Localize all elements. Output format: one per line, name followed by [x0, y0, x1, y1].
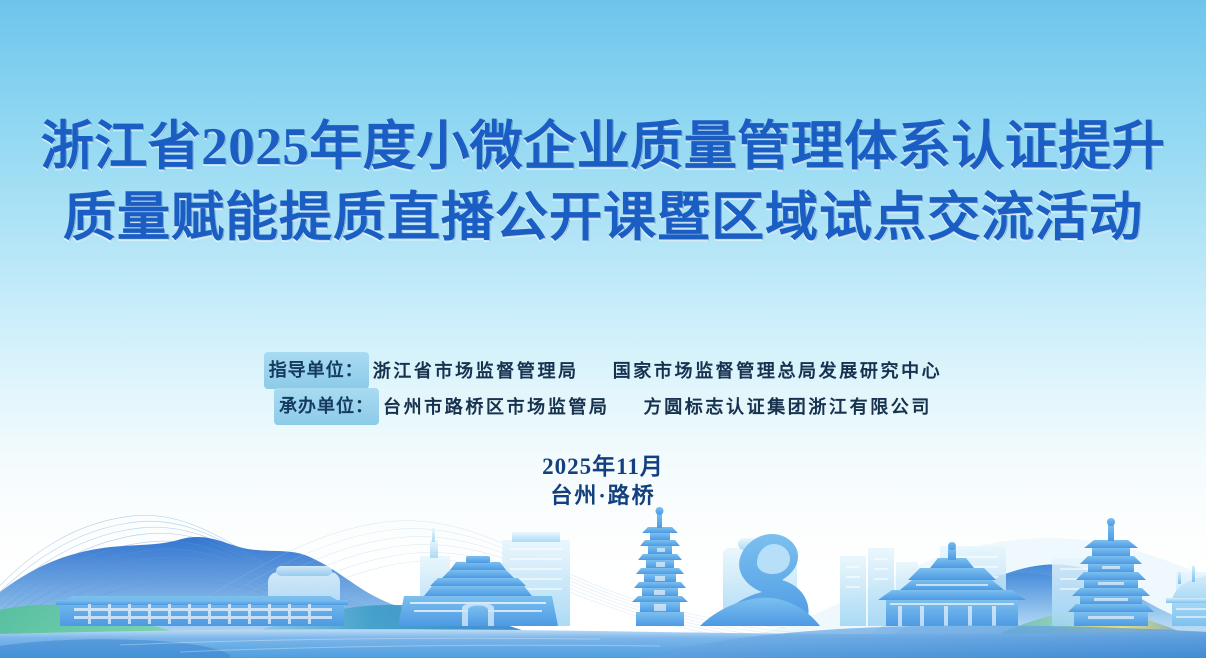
- landmark-traditional-pavilion: [878, 542, 1026, 626]
- date-place-block: 2025年11月 台州·路桥: [0, 452, 1206, 510]
- title-line-2: 质量赋能提质直播公开课暨区域试点交流活动: [0, 183, 1206, 254]
- event-poster: 浙江省2025年度小微企业质量管理体系认证提升 质量赋能提质直播公开课暨区域试点…: [0, 0, 1206, 658]
- poster-title: 浙江省2025年度小微企业质量管理体系认证提升 质量赋能提质直播公开课暨区域试点…: [0, 112, 1206, 254]
- host-unit-label: 承办单位：: [274, 388, 379, 425]
- landmark-flame-sculpture: [700, 534, 820, 626]
- guidance-unit-primary: 浙江省市场监督管理局: [369, 355, 579, 387]
- event-place: 台州·路桥: [0, 482, 1206, 510]
- organizer-row-host: 承办单位：台州市路桥区市场监管局方圆标志认证集团浙江有限公司: [0, 388, 1206, 420]
- title-line-1: 浙江省2025年度小微企业质量管理体系认证提升: [0, 112, 1206, 183]
- city-skyline: [56, 507, 1206, 626]
- event-date: 2025年11月: [0, 452, 1206, 482]
- landmark-ancient-city-gate: [398, 556, 558, 626]
- guidance-unit-label: 指导单位：: [264, 352, 369, 389]
- landmark-pagoda-tower: [632, 507, 688, 626]
- guidance-unit-secondary: 国家市场监督管理总局发展研究中心: [613, 355, 943, 387]
- landmark-exhibition-hall: [56, 596, 348, 626]
- host-unit-primary: 台州市路桥区市场监管局: [379, 391, 610, 423]
- organizer-row-guidance: 指导单位：浙江省市场监督管理局国家市场监督管理总局发展研究中心: [0, 352, 1206, 384]
- background-artwork: [0, 0, 1206, 658]
- host-unit-secondary: 方圆标志认证集团浙江有限公司: [644, 391, 932, 423]
- organizer-block: 指导单位：浙江省市场监督管理局国家市场监督管理总局发展研究中心 承办单位：台州市…: [0, 352, 1206, 424]
- landmark-stadium-arena: [1166, 566, 1206, 626]
- landmark-layered-pagoda: [1068, 518, 1154, 626]
